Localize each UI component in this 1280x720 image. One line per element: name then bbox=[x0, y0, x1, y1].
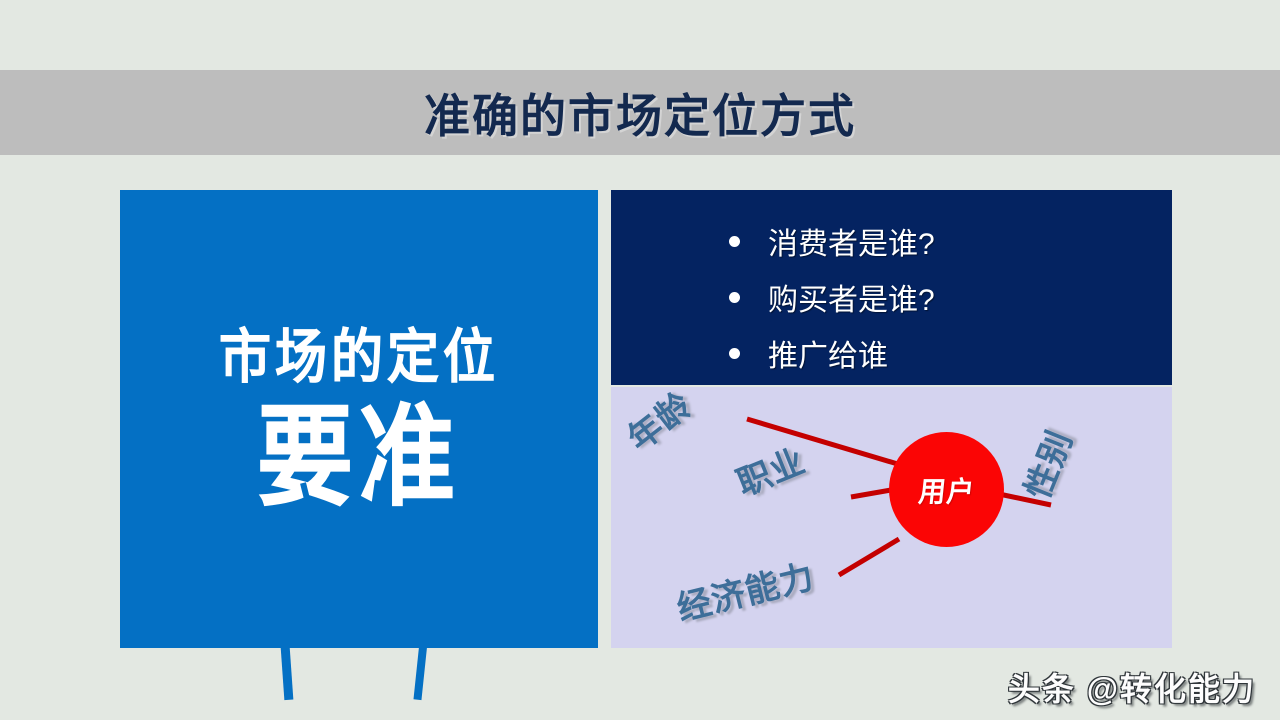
bullet-dot-icon bbox=[729, 292, 740, 303]
question-bullet-box: 消费者是谁? 购买者是谁? 推广给谁 bbox=[611, 190, 1172, 385]
page-title: 准确的市场定位方式 bbox=[0, 70, 1280, 155]
watermark: 头条 @转化能力 bbox=[1008, 664, 1256, 710]
mindmap-center-label: 用户 bbox=[916, 469, 976, 510]
slide-canvas: 准确的市场定位方式 市场的定位 要准 消费者是谁? 购买者是谁? 推广给谁 bbox=[0, 0, 1280, 720]
slogan-top-text: 市场的定位 bbox=[219, 329, 499, 387]
bullet-item-label: 购买者是谁? bbox=[768, 275, 935, 319]
bullet-dot-icon bbox=[729, 236, 740, 247]
user-mindmap-panel: 用户 年龄 职业 性别 经济能力 bbox=[611, 387, 1172, 648]
bullet-dot-icon bbox=[729, 348, 740, 359]
slogan-panel-content: 市场的定位 要准 bbox=[120, 190, 598, 648]
slogan-panel: 市场的定位 要准 bbox=[120, 190, 598, 648]
mindmap-center-node: 用户 bbox=[889, 432, 1004, 547]
bullet-item-label: 推广给谁 bbox=[768, 331, 888, 375]
list-item: 消费者是谁? bbox=[729, 216, 935, 266]
title-band: 准确的市场定位方式 bbox=[0, 70, 1280, 155]
list-item: 推广给谁 bbox=[729, 328, 935, 378]
list-item: 购买者是谁? bbox=[729, 272, 935, 322]
bullet-item-label: 消费者是谁? bbox=[768, 219, 935, 263]
bullet-list: 消费者是谁? 购买者是谁? 推广给谁 bbox=[729, 216, 935, 384]
slogan-bottom-text: 要准 bbox=[257, 403, 461, 513]
